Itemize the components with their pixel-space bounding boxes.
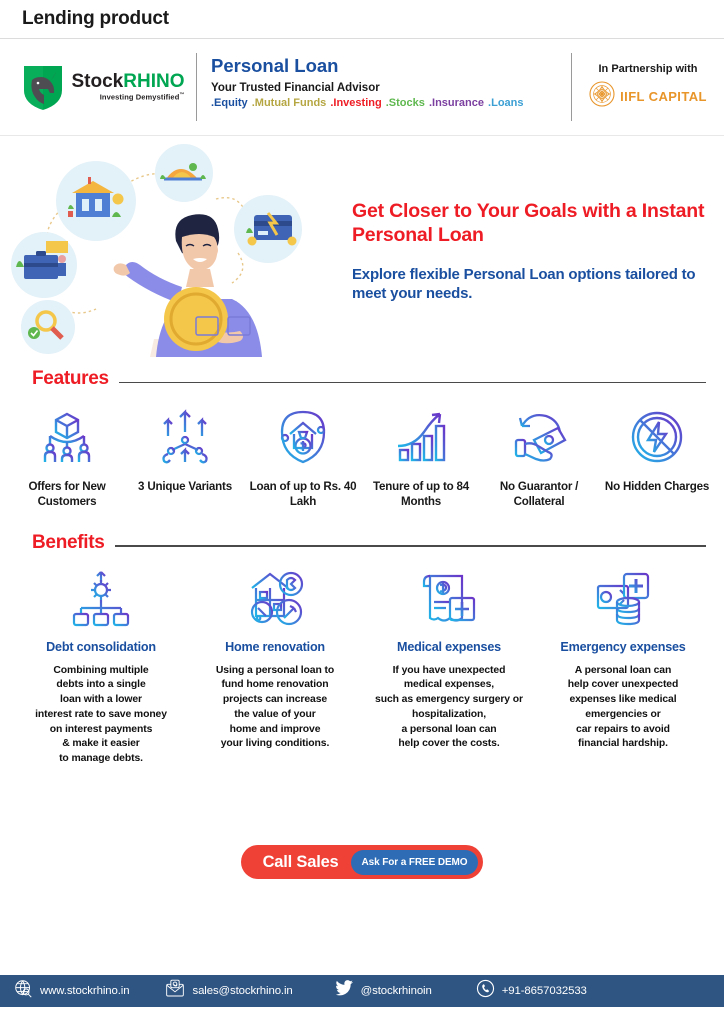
benefit-title: Home renovation xyxy=(225,640,325,654)
feature-label: Offers for New Customers xyxy=(8,480,126,510)
product-categories: .Equity .Mutual Funds .Investing .Stocks… xyxy=(211,97,571,109)
benefit-item-medical-expenses[interactable]: Medical expenses If you have unexpected … xyxy=(362,568,536,753)
features-heading: Features xyxy=(32,368,109,390)
no-hidden-charges-icon xyxy=(626,406,688,468)
partner-label: In Partnership with xyxy=(598,63,697,75)
benefits-heading: Benefits xyxy=(32,532,105,554)
benefits-rule xyxy=(115,545,706,547)
topbar: Lending product xyxy=(0,0,724,38)
feature-item-tenure[interactable]: Tenure of up to 84 Months xyxy=(362,406,480,510)
twitter-bird-icon xyxy=(333,979,354,1003)
iifl-mandala-icon xyxy=(589,81,615,112)
benefit-body: Combining multiple debts into a single l… xyxy=(35,664,167,767)
brand-block: StockRHINO Investing Demystified™ xyxy=(0,39,196,135)
benefit-title: Emergency expenses xyxy=(560,640,685,654)
feature-label: Loan of up to Rs. 40 Lakh xyxy=(244,480,362,510)
brand-header: StockRHINO Investing Demystified™ Person… xyxy=(0,39,724,135)
product-info: Personal Loan Your Trusted Financial Adv… xyxy=(197,39,571,135)
man-holding-coin-illustration-icon xyxy=(0,141,352,363)
category-investing: .Investing xyxy=(330,97,381,109)
feature-item-loan-amount[interactable]: Loan of up to Rs. 40 Lakh xyxy=(244,406,362,510)
benefit-item-home-renovation[interactable]: Home renovation Using a personal loan to… xyxy=(188,568,362,753)
benefit-body: Using a personal loan to fund home renov… xyxy=(216,664,334,753)
hero-section: Get Closer to Your Goals with a Instant … xyxy=(0,136,724,368)
benefit-item-emergency-expenses[interactable]: Emergency expenses A personal loan can h… xyxy=(536,568,710,753)
feature-item-no-hidden-charges[interactable]: No Hidden Charges xyxy=(598,406,716,495)
feature-label: 3 Unique Variants xyxy=(138,480,232,495)
bubble-search-approval xyxy=(21,300,75,354)
medical-bill-icon xyxy=(418,568,480,630)
category-insurance: .Insurance xyxy=(429,97,484,109)
footer-twitter[interactable]: @stockrhinoin xyxy=(333,979,432,1003)
feature-label: No Guarantor / Collateral xyxy=(480,480,598,510)
trademark-symbol: ™ xyxy=(179,92,184,98)
gear-hierarchy-icon xyxy=(70,568,132,630)
home-loan-money-icon xyxy=(272,406,334,468)
brand-name-part1: Stock xyxy=(72,71,124,92)
benefit-body: If you have unexpected medical expenses,… xyxy=(375,664,523,753)
lending-product-flyer: Lending product StockRHINO In xyxy=(0,0,724,1024)
benefits-list: Debt consolidation Combining multiple de… xyxy=(0,554,724,767)
feature-label: Tenure of up to 84 Months xyxy=(362,480,480,510)
feature-item-offers[interactable]: Offers for New Customers xyxy=(8,406,126,510)
footer-twitter-text: @stockrhinoin xyxy=(361,985,432,997)
product-subtitle: Your Trusted Financial Advisor xyxy=(211,82,571,94)
features-rule xyxy=(119,382,706,384)
feature-label: No Hidden Charges xyxy=(605,480,709,495)
footer-email-text: sales@stockrhino.in xyxy=(192,985,292,997)
footer-website[interactable]: www.stockrhino.in xyxy=(14,979,129,1003)
features-heading-row: Features xyxy=(0,368,724,390)
brand-name: StockRHINO xyxy=(72,72,185,92)
call-sales-button[interactable]: Call Sales Ask For a FREE DEMO xyxy=(241,845,484,879)
partner-logo: IIFL CAPITAL xyxy=(589,81,707,112)
rhino-shield-logo-icon xyxy=(20,62,66,112)
partner-name: IIFL CAPITAL xyxy=(620,89,707,104)
benefit-body: A personal loan can help cover unexpecte… xyxy=(568,664,679,753)
home-renovation-tools-icon xyxy=(244,568,306,630)
cta-row: Call Sales Ask For a FREE DEMO xyxy=(0,845,724,879)
footer-email[interactable]: sales@stockrhino.in xyxy=(165,979,292,1003)
hero-headline: Get Closer to Your Goals with a Instant … xyxy=(352,200,714,248)
category-equity: .Equity xyxy=(211,97,248,109)
offers-network-icon xyxy=(36,406,98,468)
hero-subheadline: Explore flexible Personal Loan options t… xyxy=(352,265,714,304)
three-arrows-variants-icon xyxy=(154,406,216,468)
product-title: Personal Loan xyxy=(211,55,571,77)
call-sales-label: Call Sales xyxy=(263,853,339,872)
benefit-item-debt-consolidation[interactable]: Debt consolidation Combining multiple de… xyxy=(14,568,188,767)
category-loans: .Loans xyxy=(488,97,523,109)
hero-copy: Get Closer to Your Goals with a Instant … xyxy=(352,200,724,304)
footer-bar: www.stockrhino.in sales@stockrhino.in xyxy=(0,975,724,1007)
hand-cash-icon xyxy=(508,406,570,468)
brand-wordmark: StockRHINO Investing Demystified™ xyxy=(72,72,185,101)
benefits-heading-row: Benefits xyxy=(0,532,724,554)
brand-name-part2: RHINO xyxy=(123,71,184,92)
globe-search-icon xyxy=(14,979,33,1003)
features-list: Offers for New Customers xyxy=(0,390,724,510)
footer-phone-text: +91-8657032533 xyxy=(502,985,587,997)
whatsapp-icon xyxy=(476,979,495,1003)
feature-item-no-guarantor[interactable]: No Guarantor / Collateral xyxy=(480,406,598,510)
emergency-cash-medical-icon xyxy=(592,568,654,630)
footer-phone[interactable]: +91-8657032533 xyxy=(476,979,587,1003)
partner-block: In Partnership with xyxy=(572,39,724,135)
benefit-title: Debt consolidation xyxy=(46,640,156,654)
growth-chart-icon xyxy=(390,406,452,468)
free-demo-button[interactable]: Ask For a FREE DEMO xyxy=(351,850,479,875)
benefit-title: Medical expenses xyxy=(397,640,501,654)
brand-tagline: Investing Demystified™ xyxy=(100,92,185,102)
category-mutualfunds: .Mutual Funds xyxy=(252,97,327,109)
category-stocks: .Stocks xyxy=(386,97,425,109)
footer-website-text: www.stockrhino.in xyxy=(40,985,129,997)
page-title: Lending product xyxy=(22,8,169,30)
feature-item-variants[interactable]: 3 Unique Variants xyxy=(126,406,244,495)
email-at-icon xyxy=(165,979,185,1003)
